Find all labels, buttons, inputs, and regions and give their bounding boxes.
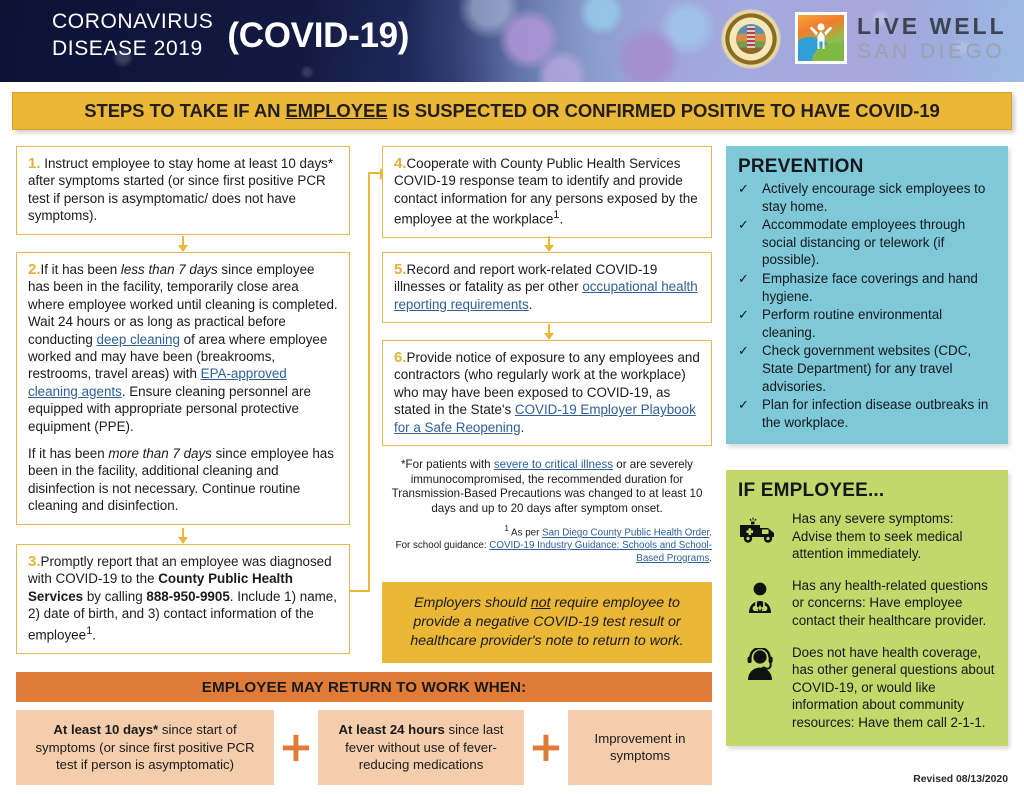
step-2-p2-italic: more than 7 days bbox=[108, 446, 211, 461]
arrow-step5-to-step6-icon bbox=[543, 324, 555, 340]
page-title-employee-underlined: EMPLOYEE bbox=[285, 100, 387, 121]
header-line-2: DISEASE 2019 bbox=[52, 35, 213, 62]
prevention-item: ✓ Accommodate employees through social d… bbox=[738, 216, 996, 269]
footnote-ref-a: As per bbox=[509, 528, 542, 539]
step-1-number: 1. bbox=[28, 155, 41, 172]
employers-note-box: Employers should not require employee to… bbox=[382, 582, 712, 663]
checkmark-icon: ✓ bbox=[738, 270, 752, 305]
step-2-number: 2. bbox=[28, 261, 41, 278]
prevention-item: ✓ Check government websites (CDC, State … bbox=[738, 342, 996, 395]
step-1-text: Instruct employee to stay home at least … bbox=[28, 156, 333, 223]
employers-note-a: Employers should bbox=[414, 595, 531, 611]
arrow-step1-to-step2-icon bbox=[177, 236, 189, 252]
logo-line-live-well: LIVE WELL bbox=[857, 15, 1007, 38]
step-2-p1-italic: less than 7 days bbox=[121, 262, 218, 277]
header-disease-name: CORONAVIRUS DISEASE 2019 bbox=[52, 8, 213, 62]
prevention-list: ✓ Actively encourage sick employees to s… bbox=[738, 180, 996, 431]
header-covid-label: (COVID-19) bbox=[227, 16, 409, 56]
header-title-group: CORONAVIRUS DISEASE 2019 (COVID-19) bbox=[52, 8, 409, 62]
link-covid-19-industry-guidance-schools[interactable]: COVID-19 Industry Guidance: Schools and … bbox=[489, 540, 712, 564]
prevention-item-label: Accommodate employees through social dis… bbox=[762, 216, 996, 269]
page-title: STEPS TO TAKE IF AN EMPLOYEE IS SUSPECTE… bbox=[84, 100, 939, 122]
step-2-paragraph-2: If it has been more than 7 days since em… bbox=[28, 445, 338, 515]
step-6-number: 6. bbox=[394, 349, 407, 366]
prevention-item-label: Plan for infection disease outbreaks in … bbox=[762, 396, 996, 431]
virus-illustration bbox=[430, 0, 760, 82]
rtw-card-1-bold: At least 10 days* bbox=[53, 722, 158, 737]
header-line-1: CORONAVIRUS bbox=[52, 8, 213, 35]
footnote-block: *For patients with severe to critical il… bbox=[382, 458, 712, 565]
footnote-asterisk-a: *For patients with bbox=[401, 458, 494, 471]
if-employee-row-label: Does not have health coverage, has other… bbox=[792, 644, 996, 732]
step-4-text-b: . bbox=[560, 212, 564, 227]
checkmark-icon: ✓ bbox=[738, 216, 752, 269]
footnote-ref-d: . bbox=[709, 553, 712, 564]
prevention-item: ✓ Emphasize face coverings and hand hygi… bbox=[738, 270, 996, 305]
link-deep-cleaning[interactable]: deep cleaning bbox=[97, 332, 180, 347]
prevention-item-label: Perform routine environmental cleaning. bbox=[762, 306, 996, 341]
footnote-ref-c: For school guidance: bbox=[396, 540, 490, 551]
page-title-bar: STEPS TO TAKE IF AN EMPLOYEE IS SUSPECTE… bbox=[12, 92, 1012, 130]
revised-date: Revised 08/13/2020 bbox=[0, 774, 1008, 785]
checkmark-icon: ✓ bbox=[738, 396, 752, 431]
step-2-p2-a: If it has been bbox=[28, 446, 108, 461]
checkmark-icon: ✓ bbox=[738, 180, 752, 215]
prevention-item: ✓ Plan for infection disease outbreaks i… bbox=[738, 396, 996, 431]
step-4-number: 4. bbox=[394, 155, 407, 172]
step-6-text-b: . bbox=[521, 420, 525, 435]
page-header-banner: CORONAVIRUS DISEASE 2019 (COVID-19) LIVE… bbox=[0, 0, 1024, 82]
headset-operator-icon bbox=[738, 644, 782, 686]
prevention-item: ✓ Perform routine environmental cleaning… bbox=[738, 306, 996, 341]
if-employee-row: Has any severe symptoms: Advise them to … bbox=[738, 510, 996, 563]
step-box-2: 2.If it has been less than 7 days since … bbox=[16, 252, 350, 525]
if-employee-row: Does not have health coverage, has other… bbox=[738, 644, 996, 732]
live-well-san-diego-logo: LIVE WELL SAN DIEGO bbox=[795, 12, 1007, 64]
return-to-work-heading: EMPLOYEE MAY RETURN TO WORK WHEN: bbox=[202, 679, 527, 696]
employers-note-not-underlined: not bbox=[531, 595, 551, 611]
page-title-suffix: IS SUSPECTED OR CONFIRMED POSITIVE TO HA… bbox=[387, 100, 939, 121]
step-5-text-b: . bbox=[529, 297, 533, 312]
prevention-item-label: Emphasize face coverings and hand hygien… bbox=[762, 270, 996, 305]
step-3-phone-number: 888-950-9905 bbox=[146, 589, 229, 604]
page-title-prefix: STEPS TO TAKE IF AN bbox=[84, 100, 285, 121]
if-employee-row: Has any health-related questions or conc… bbox=[738, 577, 996, 630]
step-4-text-a: Cooperate with County Public Health Serv… bbox=[394, 156, 698, 227]
if-employee-row-label: Has any health-related questions or conc… bbox=[792, 577, 996, 630]
arrow-step3-to-step4-icon bbox=[350, 162, 384, 612]
step-2-paragraph-1: 2.If it has been less than 7 days since … bbox=[28, 261, 338, 435]
ambulance-icon bbox=[738, 510, 782, 552]
step-3-text-d: . bbox=[92, 627, 96, 642]
link-san-diego-county-public-health-order[interactable]: San Diego County Public Health Order bbox=[542, 528, 709, 539]
step-3-number: 3. bbox=[28, 553, 41, 570]
link-severe-to-critical-illness[interactable]: severe to critical illness bbox=[494, 458, 613, 471]
step-5-number: 5. bbox=[394, 261, 407, 278]
arrow-step2-to-step3-icon bbox=[177, 528, 189, 544]
logo-line-san-diego: SAN DIEGO bbox=[857, 41, 1007, 62]
county-seal-icon bbox=[722, 10, 780, 68]
checkmark-icon: ✓ bbox=[738, 306, 752, 341]
if-employee-row-label: Has any severe symptoms: Advise them to … bbox=[792, 510, 996, 563]
footnote-ref-b: . bbox=[709, 528, 712, 539]
footnote-references: 1 As per San Diego County Public Health … bbox=[382, 523, 712, 565]
step-box-5: 5.Record and report work-related COVID-1… bbox=[382, 252, 712, 323]
prevention-item-label: Check government websites (CDC, State De… bbox=[762, 342, 996, 395]
step-box-1: 1. Instruct employee to stay home at lea… bbox=[16, 146, 350, 235]
if-employee-heading: IF EMPLOYEE... bbox=[738, 480, 996, 502]
step-box-3: 3.Promptly report that an employee was d… bbox=[16, 544, 350, 654]
rtw-card-3-rest: Improvement in symptoms bbox=[595, 731, 686, 764]
if-employee-panel: IF EMPLOYEE... bbox=[726, 470, 1008, 746]
prevention-heading: PREVENTION bbox=[738, 156, 996, 178]
step-2-p1-a: If it has been bbox=[41, 262, 121, 277]
checkmark-icon: ✓ bbox=[738, 342, 752, 395]
live-well-mark-icon bbox=[795, 12, 847, 64]
step-box-4: 4.Cooperate with County Public Health Se… bbox=[382, 146, 712, 238]
arrow-step4-to-step5-icon bbox=[543, 236, 555, 252]
rtw-card-2-bold: At least 24 hours bbox=[339, 722, 445, 737]
prevention-item-label: Actively encourage sick employees to sta… bbox=[762, 180, 996, 215]
doctor-icon bbox=[738, 577, 782, 619]
step-box-6: 6.Provide notice of exposure to any empl… bbox=[382, 340, 712, 446]
prevention-item: ✓ Actively encourage sick employees to s… bbox=[738, 180, 996, 215]
prevention-panel: PREVENTION ✓ Actively encourage sick emp… bbox=[726, 146, 1008, 444]
return-to-work-header: EMPLOYEE MAY RETURN TO WORK WHEN: bbox=[16, 672, 712, 702]
step-3-text-b: by calling bbox=[83, 589, 146, 604]
